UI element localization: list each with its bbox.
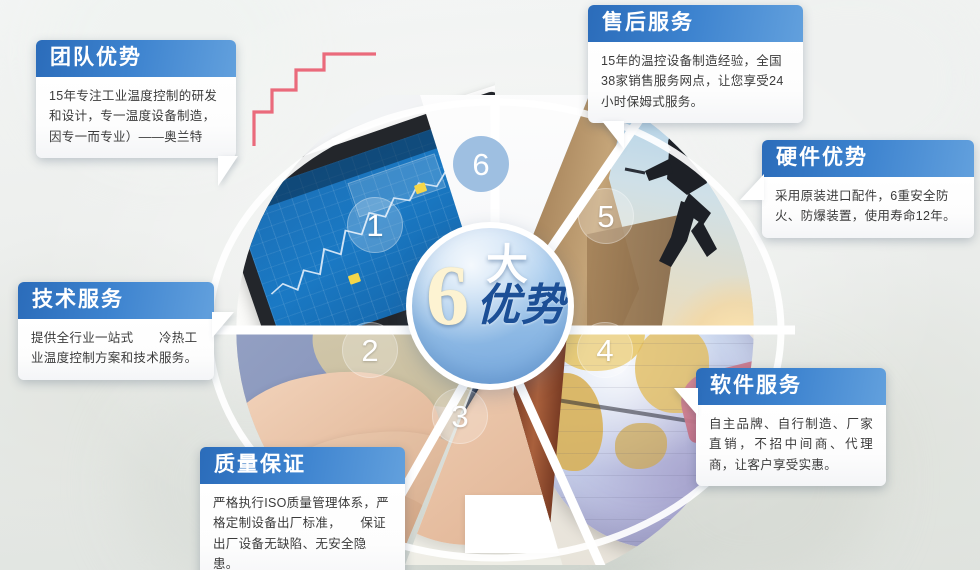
card-team-tail — [218, 156, 238, 186]
card-hardware-advantage[interactable]: 硬件优势 采用原装进口配件，6重安全防火、防爆装置，使用寿命12年。 — [762, 140, 974, 238]
badge-3[interactable]: 3 — [432, 388, 488, 444]
badge-4[interactable]: 4 — [577, 322, 633, 378]
card-team-body: 15年专注工业温度控制的研发和设计，专一温度设备制造，因专一而专业）——奥兰特 — [36, 77, 236, 158]
infographic-canvas: 1 2 3 4 5 6 6 大 优势 团队优势 15年专注工业温度控制的研发和设… — [0, 0, 980, 570]
card-quality-assurance[interactable]: 质量保证 严格执行ISO质量管理体系，严格定制设备出厂标准， 保证出厂设备无缺陷… — [200, 447, 405, 570]
card-hardware-title: 硬件优势 — [762, 140, 974, 177]
card-technical-service[interactable]: 技术服务 提供全行业一站式 冷热工业温度控制方案和技术服务。 — [18, 282, 214, 380]
card-technical-body: 提供全行业一站式 冷热工业温度控制方案和技术服务。 — [18, 319, 214, 380]
badge-1[interactable]: 1 — [347, 197, 403, 253]
card-technical-title: 技术服务 — [18, 282, 214, 319]
card-technical-tail — [212, 312, 234, 338]
card-hardware-body: 采用原装进口配件，6重安全防火、防爆装置，使用寿命12年。 — [762, 177, 974, 238]
card-after-sales-body: 15年的温控设备制造经验，全国38家销售服务网点，让您享受24小时保姆式服务。 — [588, 42, 803, 123]
center-number-six: 6 — [426, 252, 469, 338]
badge-2[interactable]: 2 — [342, 322, 398, 378]
center-hub[interactable]: 6 大 优势 — [406, 222, 574, 390]
card-software-body: 自主品牌、自行制造、厂家直销，不招中间商、代理商，让客户享受实惠。 — [696, 405, 886, 486]
center-char-youshi: 优势 — [476, 284, 566, 328]
card-hardware-tail — [740, 174, 764, 200]
card-after-sales-tail — [602, 121, 624, 149]
card-quality-title: 质量保证 — [200, 447, 405, 484]
card-quality-body: 严格执行ISO质量管理体系，严格定制设备出厂标准， 保证出厂设备无缺陷、无安全隐… — [200, 484, 405, 570]
card-software-service[interactable]: 软件服务 自主品牌、自行制造、厂家直销，不招中间商、代理商，让客户享受实惠。 — [696, 368, 886, 486]
center-hub-inner: 6 大 优势 — [412, 228, 568, 384]
card-team-title: 团队优势 — [36, 40, 236, 77]
badge-5[interactable]: 5 — [578, 188, 634, 244]
climber-figure — [615, 121, 725, 281]
card-software-tail — [674, 388, 698, 416]
center-char-da: 大 — [486, 244, 528, 286]
card-after-sales-title: 售后服务 — [588, 5, 803, 42]
badge-6[interactable]: 6 — [453, 136, 509, 192]
card-after-sales[interactable]: 售后服务 15年的温控设备制造经验，全国38家销售服务网点，让您享受24小时保姆… — [588, 5, 803, 123]
card-team-advantage[interactable]: 团队优势 15年专注工业温度控制的研发和设计，专一温度设备制造，因专一而专业）—… — [36, 40, 236, 158]
card-software-title: 软件服务 — [696, 368, 886, 405]
